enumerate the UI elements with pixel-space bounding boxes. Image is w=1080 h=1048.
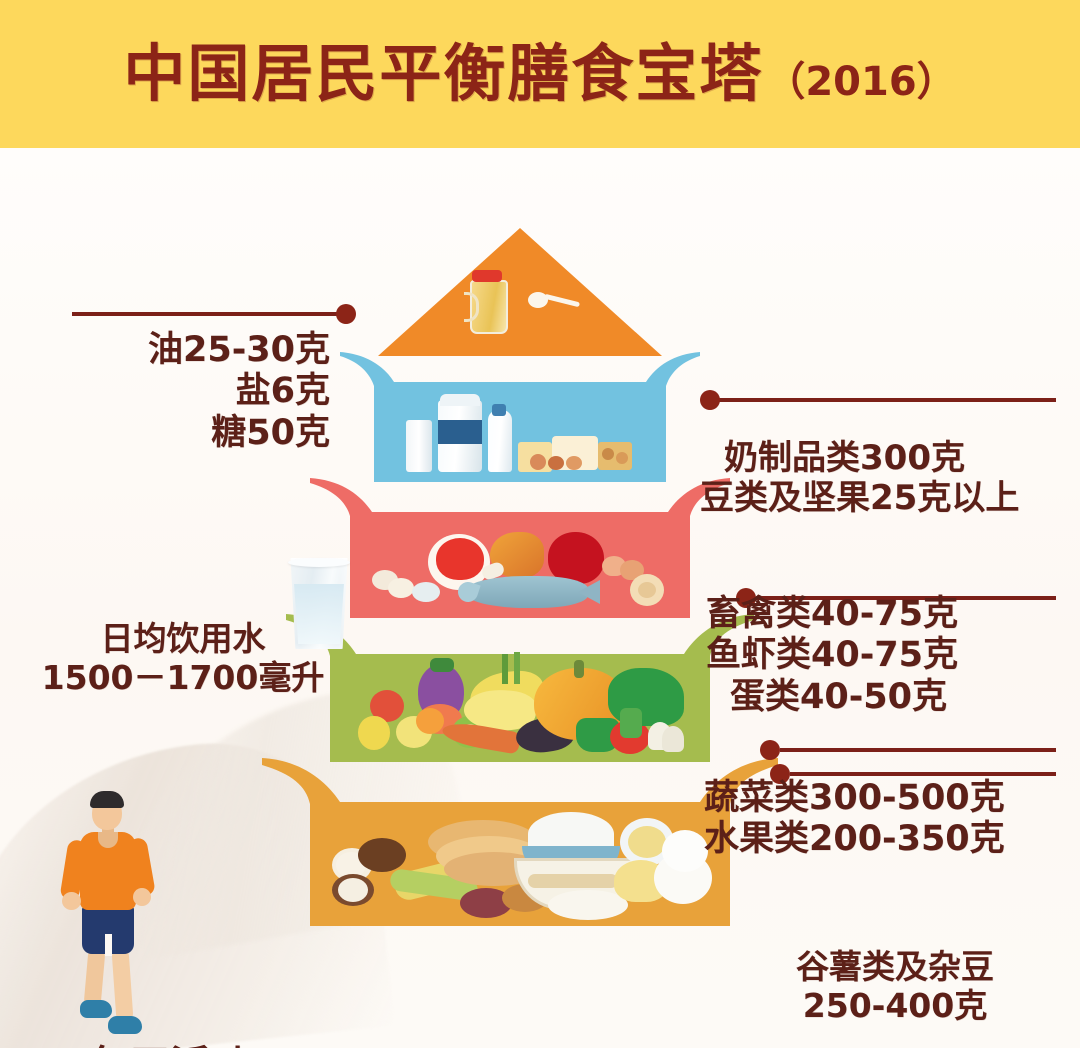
pyramid-tier-meat-fish-eggs[interactable]	[310, 478, 730, 618]
runner-right-hand	[133, 888, 151, 906]
pyramid-tier-vegetables-fruits[interactable]	[286, 614, 754, 762]
milk-carton-cheese-nuts-icon	[400, 394, 640, 474]
pyramid-tier-oil-salt-sugar[interactable]	[378, 228, 662, 356]
pyramid-tier-grains-tubers-beans[interactable]	[262, 758, 778, 926]
pyramid-stage: 油25-30克 盐6克 糖50克 奶制品类300克 豆类及坚果25克以上 畜禽类…	[0, 148, 1080, 1048]
runner-shorts-split	[105, 934, 112, 956]
title-banner-inner: 中国居民平衡膳食宝塔 （2016）	[123, 43, 956, 105]
label-meat-fish-eggs: 畜禽类40-75克 鱼虾类40-75克 蛋类40-50克	[706, 594, 958, 718]
runner-left-shoe	[80, 1000, 112, 1018]
label-water-line-1: 日均饮用水	[18, 620, 348, 659]
label-water-line-2: 1500－1700毫升	[18, 659, 348, 698]
connector-line-vegetables	[780, 748, 1056, 752]
runner-left-hand	[62, 892, 81, 910]
pyramid-tier-dairy-beans-nuts[interactable]	[340, 352, 700, 482]
label-meat-line-1: 畜禽类40-75克	[706, 594, 958, 635]
label-oil-salt-sugar: 油25-30克 盐6克 糖50克	[60, 330, 330, 454]
connector-dot-oil	[336, 304, 356, 324]
meat-fish-egg-shrimp-icon	[372, 526, 672, 612]
label-meat-line-2: 鱼虾类40-75克	[706, 635, 958, 676]
label-grain-line-2: 250-400克	[770, 987, 1020, 1026]
salt-spoon-icon	[528, 290, 582, 316]
label-daily-activity: 每天活动 6000步	[20, 1043, 320, 1048]
label-dairy-beans-nuts: 奶制品类300克 豆类及坚果25克以上	[700, 438, 1019, 518]
tier-oil-triangle-shape	[378, 228, 662, 356]
page-title-year: （2016）	[765, 62, 956, 102]
connector-dot-vegetables	[760, 740, 780, 760]
runner-right-shoe	[108, 1016, 142, 1034]
runner-right-leg	[111, 947, 133, 1022]
page-title: 中国居民平衡膳食宝塔	[123, 43, 763, 105]
connector-line-dairy	[716, 398, 1056, 402]
label-meat-line-3: 蛋类40-50克	[706, 677, 958, 718]
label-grain-line-1: 谷薯类及杂豆	[770, 948, 1020, 987]
label-vegetables-fruits: 蔬菜类300-500克 水果类200-350克	[704, 778, 1005, 861]
label-grains-tubers-beans: 谷薯类及杂豆 250-400克	[770, 948, 1020, 1026]
connector-line-oil	[72, 312, 340, 316]
title-banner: 中国居民平衡膳食宝塔 （2016）	[0, 0, 1080, 148]
label-steps-line-1: 每天活动	[20, 1043, 320, 1048]
label-oil-line-3: 糖50克	[60, 413, 330, 454]
connector-line-grains	[790, 772, 1056, 776]
label-veg-line-1: 蔬菜类300-500克	[704, 778, 1005, 819]
label-veg-line-2: 水果类200-350克	[704, 819, 1005, 860]
connector-dot-dairy	[700, 390, 720, 410]
grains-bread-rice-potato-icon	[332, 812, 712, 920]
label-oil-line-2: 盐6克	[60, 371, 330, 412]
oil-bottle-icon	[464, 270, 510, 332]
glass-rim	[288, 558, 350, 567]
label-dairy-line-2: 豆类及坚果25克以上	[700, 478, 1019, 518]
label-daily-water: 日均饮用水 1500－1700毫升	[18, 620, 348, 698]
label-dairy-line-1: 奶制品类300克	[700, 438, 1019, 478]
runner-hair	[90, 791, 124, 808]
vegetables-fruits-icon	[352, 664, 688, 756]
label-oil-line-1: 油25-30克	[60, 330, 330, 371]
running-man-icon	[48, 788, 168, 1038]
